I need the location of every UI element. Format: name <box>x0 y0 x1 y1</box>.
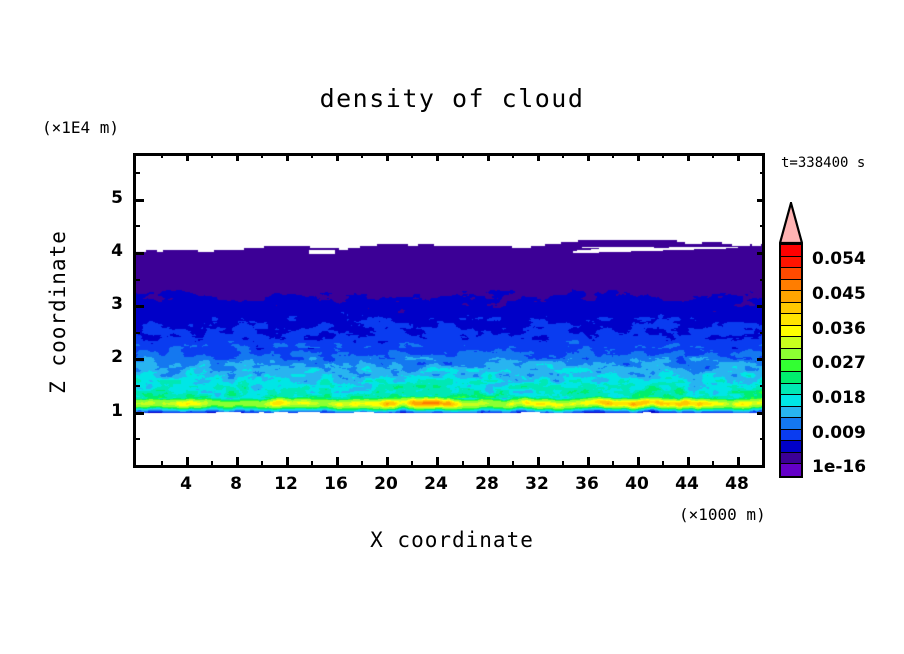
y-tick-major <box>133 412 144 415</box>
x-tick-major-top <box>336 153 339 161</box>
colorbar-band <box>781 245 801 257</box>
x-tick-minor-top <box>462 153 464 158</box>
colorbar-band <box>781 303 801 315</box>
x-tick-minor <box>612 461 614 468</box>
x-tick-major <box>587 457 590 468</box>
x-tick-major-top <box>386 153 389 161</box>
x-tick-label: 32 <box>517 474 557 494</box>
colorbar-tick-label: 1e-16 <box>812 457 866 477</box>
z-axis-unit-label: (×1E4 m) <box>42 118 119 137</box>
x-tick-minor-top <box>712 153 714 158</box>
y-tick-minor <box>133 438 140 440</box>
x-axis-unit-label: (×1000 m) <box>679 505 766 524</box>
x-tick-minor <box>261 461 263 468</box>
x-tick-major <box>236 457 239 468</box>
colorbar: 0.0540.0450.0360.0270.0180.0091e-16 <box>776 200 896 482</box>
x-tick-label: 16 <box>316 474 356 494</box>
x-tick-minor-top <box>562 153 564 158</box>
x-tick-major-top <box>737 153 740 161</box>
y-tick-label: 2 <box>89 347 123 367</box>
y-tick-minor <box>133 279 140 281</box>
colorbar-tick-label: 0.009 <box>812 423 866 443</box>
y-tick-major-right <box>757 412 765 415</box>
x-tick-minor-top <box>261 153 263 158</box>
x-axis-title: X coordinate <box>0 528 904 552</box>
x-tick-label: 48 <box>717 474 757 494</box>
y-tick-minor-right <box>760 332 765 334</box>
colorbar-band <box>781 326 801 338</box>
x-tick-minor <box>161 461 163 468</box>
x-tick-major-top <box>186 153 189 161</box>
y-tick-minor <box>133 332 140 334</box>
colorbar-band <box>781 349 801 361</box>
colorbar-band <box>781 407 801 419</box>
y-tick-label: 5 <box>89 188 123 208</box>
x-tick-label: 12 <box>266 474 306 494</box>
colorbar-tick-label: 0.027 <box>812 353 866 373</box>
y-tick-label: 4 <box>89 241 123 261</box>
y-tick-minor <box>133 225 140 227</box>
contour-plot-area <box>133 153 765 468</box>
x-tick-label: 4 <box>166 474 206 494</box>
x-tick-major-top <box>436 153 439 161</box>
y-tick-major <box>133 305 144 308</box>
x-tick-minor <box>762 461 764 468</box>
x-tick-label: 20 <box>366 474 406 494</box>
colorbar-band <box>781 395 801 407</box>
y-tick-label: 3 <box>89 294 123 314</box>
x-tick-label: 24 <box>416 474 456 494</box>
y-tick-major <box>133 358 144 361</box>
page-title: density of cloud <box>0 84 904 113</box>
colorbar-tick-label: 0.045 <box>812 284 866 304</box>
y-axis-title: Z coordinate <box>46 202 70 422</box>
colorbar-band <box>781 372 801 384</box>
x-tick-minor-top <box>211 153 213 158</box>
colorbar-band <box>781 257 801 269</box>
y-tick-minor-right <box>760 172 765 174</box>
x-tick-major <box>386 457 389 468</box>
x-tick-minor <box>311 461 313 468</box>
x-tick-label: 40 <box>617 474 657 494</box>
x-tick-minor <box>211 461 213 468</box>
contour-field-canvas <box>136 156 762 465</box>
colorbar-band <box>781 441 801 453</box>
colorbar-band <box>781 430 801 442</box>
x-tick-minor <box>361 461 363 468</box>
colorbar-band <box>781 418 801 430</box>
x-tick-minor <box>562 461 564 468</box>
colorbar-tick-label: 0.018 <box>812 388 866 408</box>
x-tick-major <box>737 457 740 468</box>
x-tick-label: 36 <box>567 474 607 494</box>
x-tick-minor <box>411 461 413 468</box>
colorbar-band <box>781 314 801 326</box>
colorbar-band <box>781 384 801 396</box>
x-tick-minor <box>712 461 714 468</box>
colorbar-band <box>781 280 801 292</box>
y-tick-major-right <box>757 358 765 361</box>
x-tick-major-top <box>587 153 590 161</box>
colorbar-bands <box>779 243 803 478</box>
colorbar-band <box>781 268 801 280</box>
x-tick-minor-top <box>512 153 514 158</box>
y-tick-minor <box>133 172 140 174</box>
x-tick-minor <box>662 461 664 468</box>
x-tick-major-top <box>687 153 690 161</box>
y-tick-major-right <box>757 252 765 255</box>
y-tick-label: 1 <box>89 401 123 421</box>
x-tick-major-top <box>236 153 239 161</box>
x-tick-major <box>436 457 439 468</box>
colorbar-band <box>781 337 801 349</box>
colorbar-band <box>781 291 801 303</box>
x-tick-major <box>637 457 640 468</box>
y-tick-minor-right <box>760 225 765 227</box>
y-tick-major-right <box>757 305 765 308</box>
colorbar-tick-label: 0.036 <box>812 319 866 339</box>
x-tick-minor-top <box>161 153 163 158</box>
x-tick-minor-top <box>311 153 313 158</box>
x-tick-label: 28 <box>467 474 507 494</box>
x-tick-minor-top <box>361 153 363 158</box>
colorbar-overflow-tip-icon <box>779 202 803 244</box>
colorbar-band <box>781 453 801 465</box>
y-tick-minor-right <box>760 279 765 281</box>
x-tick-major <box>537 457 540 468</box>
x-tick-major-top <box>487 153 490 161</box>
x-tick-label: 44 <box>667 474 707 494</box>
y-tick-major-right <box>757 199 765 202</box>
y-tick-minor-right <box>760 438 765 440</box>
y-tick-minor <box>133 385 140 387</box>
x-tick-major <box>336 457 339 468</box>
x-tick-minor-top <box>662 153 664 158</box>
x-tick-minor-top <box>612 153 614 158</box>
x-tick-minor <box>512 461 514 468</box>
y-tick-minor-right <box>760 385 765 387</box>
x-tick-minor <box>462 461 464 468</box>
x-tick-major-top <box>286 153 289 161</box>
x-tick-minor-top <box>762 153 764 158</box>
colorbar-tick-label: 0.054 <box>812 249 866 269</box>
colorbar-band <box>781 464 801 476</box>
colorbar-band <box>781 360 801 372</box>
x-tick-major-top <box>637 153 640 161</box>
x-tick-label: 8 <box>216 474 256 494</box>
x-tick-minor-top <box>411 153 413 158</box>
x-tick-major <box>687 457 690 468</box>
y-tick-major <box>133 252 144 255</box>
x-tick-major-top <box>537 153 540 161</box>
y-tick-major <box>133 199 144 202</box>
x-tick-major <box>487 457 490 468</box>
x-tick-major <box>186 457 189 468</box>
time-annotation: t=338400 s <box>781 155 865 171</box>
x-tick-major <box>286 457 289 468</box>
